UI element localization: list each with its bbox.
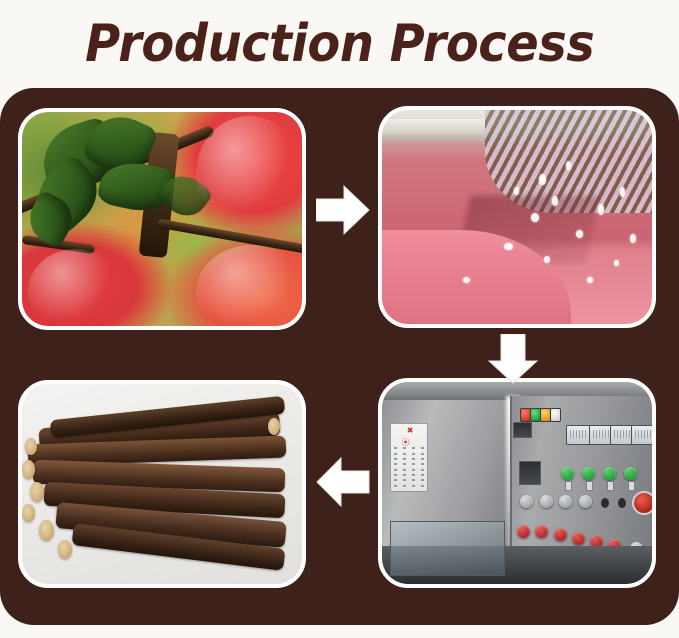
panel-switch-red[interactable]	[517, 525, 530, 538]
apple-highlight-top	[196, 116, 302, 232]
apple-highlight-bottom	[196, 245, 302, 326]
panel-gauge	[631, 425, 652, 445]
water-droplet	[566, 161, 571, 170]
stick-cut-end	[58, 540, 72, 559]
stick-cut-end	[30, 482, 44, 502]
panel-port	[601, 498, 609, 508]
panel-switch-red[interactable]	[572, 532, 585, 545]
panel-switch-green[interactable]	[561, 467, 574, 480]
panel-switch-grey[interactable]	[540, 495, 553, 508]
machine-viewport	[390, 521, 505, 576]
panel-switch-red[interactable]	[554, 528, 567, 541]
panel-switch-green[interactable]	[624, 467, 637, 480]
title-bar: Production Process	[0, 0, 679, 88]
process-step-harvest	[18, 108, 306, 330]
chew-sticks-photo	[22, 384, 302, 584]
stick-cut-end	[25, 438, 37, 455]
emergency-stop-button[interactable]	[632, 491, 652, 515]
process-board: ✖ ⦿	[0, 88, 679, 625]
stick-cut-end	[39, 520, 54, 541]
indicator-light-white	[550, 408, 561, 422]
drying-machine-photo: ✖ ⦿	[382, 382, 652, 584]
water-droplet	[531, 213, 539, 222]
panel-switch-green[interactable]	[582, 467, 595, 480]
process-step-drying: ✖ ⦿	[378, 378, 656, 588]
water-droplet	[539, 174, 546, 185]
page-title: Production Process	[85, 18, 594, 70]
panel-switch-grey[interactable]	[520, 495, 533, 508]
process-step-finished	[18, 380, 306, 588]
panel-port	[618, 498, 626, 508]
panel-switch-grey[interactable]	[579, 495, 592, 508]
water-droplet	[463, 277, 470, 283]
machine-control-panel[interactable]	[510, 396, 652, 566]
panel-switch-stem	[586, 481, 593, 491]
panel-switch-stem	[628, 481, 635, 491]
panel-switch-stem	[607, 481, 614, 491]
water-droplet	[598, 204, 604, 215]
water-droplet	[544, 256, 550, 263]
water-droplet	[504, 243, 513, 250]
apple-highlight-left	[28, 249, 123, 326]
panel-switch-grey[interactable]	[559, 495, 572, 508]
washing-photo	[382, 110, 652, 324]
panel-switch-green[interactable]	[603, 467, 616, 480]
process-step-washing	[378, 106, 656, 328]
stick-cut-end	[22, 504, 35, 522]
orchard-photo	[22, 112, 302, 326]
panel-display	[513, 422, 532, 438]
water-droplet	[587, 277, 593, 283]
machine-placard: ✖ ⦿	[390, 423, 429, 492]
water-droplet	[552, 196, 558, 206]
stick-cut-end	[22, 460, 35, 479]
water-droplet	[614, 260, 619, 266]
water-droplet	[630, 234, 636, 243]
panel-display-main	[519, 461, 541, 485]
panel-switch-red[interactable]	[535, 525, 548, 538]
water-droplet	[620, 187, 625, 197]
panel-switch-stem	[565, 481, 572, 491]
